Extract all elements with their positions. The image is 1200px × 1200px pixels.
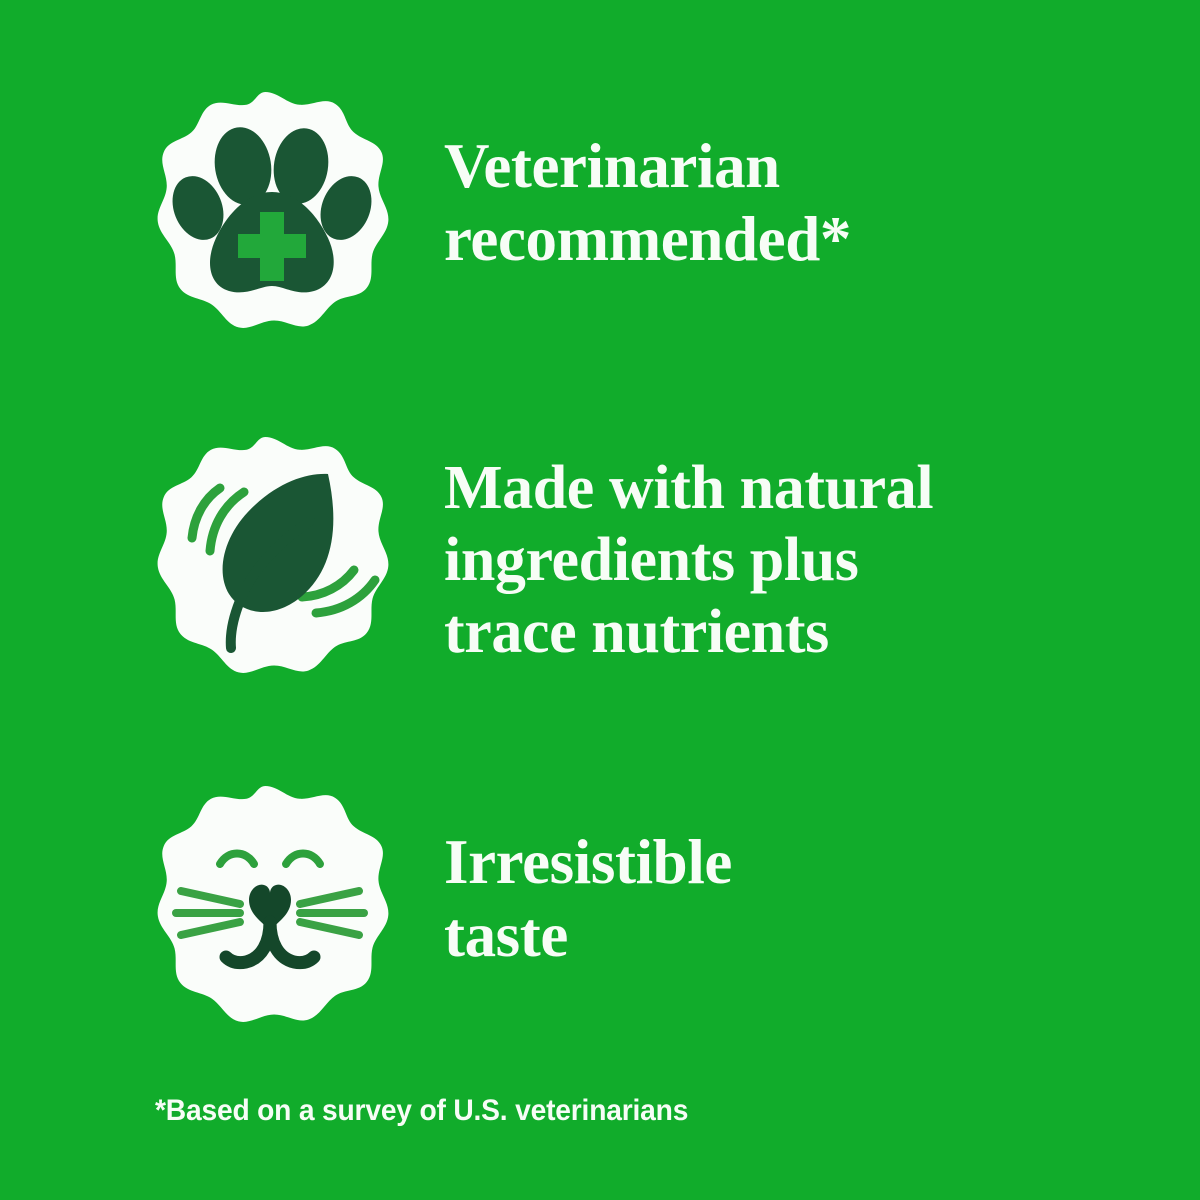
benefit-row: Veterinarian recommended*: [0, 88, 1200, 334]
footnote-disclaimer: *Based on a survey of U.S. veterinarians: [155, 1093, 1001, 1129]
benefits-panel: Veterinarian recommended* Made with natu…: [0, 0, 1200, 1200]
leaf-with-motion-lines-badge-icon: [150, 433, 390, 679]
happy-cat-face-badge-icon: [150, 782, 390, 1028]
paw-with-medical-cross-badge-icon: [150, 88, 390, 334]
benefit-row: Irresistible taste: [0, 782, 1200, 1028]
benefit-row: Made with natural ingredients plus trace…: [0, 433, 1200, 679]
benefit-headline: Made with natural ingredients plus trace…: [444, 433, 1200, 669]
benefit-headline: Irresistible taste: [444, 782, 1200, 972]
benefit-headline: Veterinarian recommended*: [444, 88, 1200, 276]
